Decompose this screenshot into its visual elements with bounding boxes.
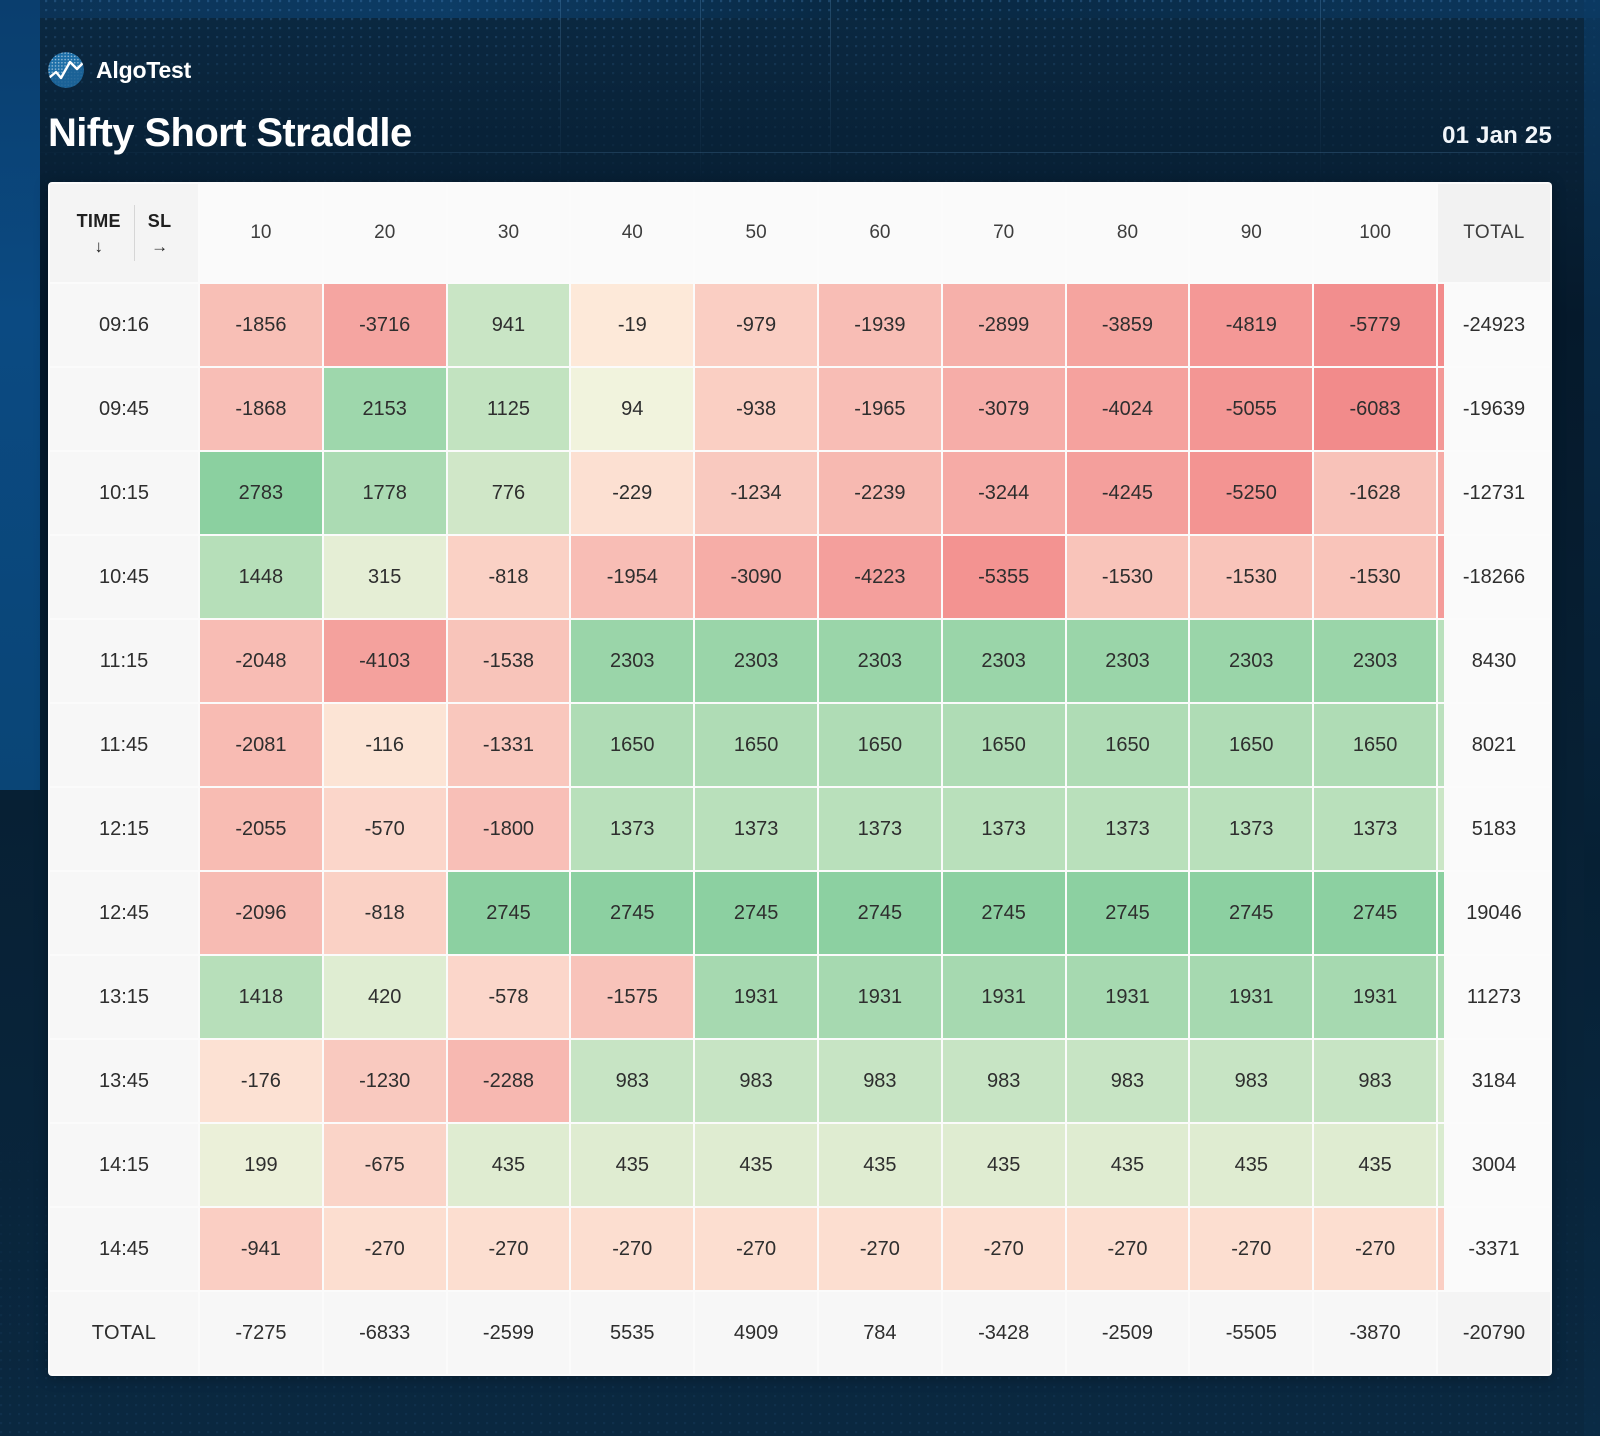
row-time-label: 10:15 bbox=[50, 452, 198, 534]
heatmap-cell[interactable]: -270 bbox=[1314, 1208, 1436, 1290]
heatmap-cell[interactable]: -270 bbox=[819, 1208, 941, 1290]
heatmap-cell[interactable]: 983 bbox=[943, 1040, 1065, 1122]
table-body: 09:16-1856-3716941-19-979-1939-2899-3859… bbox=[50, 284, 1550, 1374]
heatmap-cell[interactable]: -1939 bbox=[819, 284, 941, 366]
heatmap-cell[interactable]: -1954 bbox=[571, 536, 693, 618]
heatmap-cell[interactable]: -2899 bbox=[943, 284, 1065, 366]
heatmap-cell[interactable]: 1931 bbox=[819, 956, 941, 1038]
heatmap-cell[interactable]: 1418 bbox=[200, 956, 322, 1038]
heatmap-cell[interactable]: -176 bbox=[200, 1040, 322, 1122]
column-header-30: 30 bbox=[448, 184, 570, 282]
heatmap-cell[interactable]: 1373 bbox=[1314, 788, 1436, 870]
heatmap-cell[interactable]: 1373 bbox=[1067, 788, 1189, 870]
heatmap-cell[interactable]: -578 bbox=[448, 956, 570, 1038]
heatmap-cell[interactable]: -4024 bbox=[1067, 368, 1189, 450]
heatmap-cell[interactable]: 1373 bbox=[571, 788, 693, 870]
column-header-60: 60 bbox=[819, 184, 941, 282]
arrow-down-icon: ↓ bbox=[94, 238, 103, 255]
total-column-header: TOTAL bbox=[1438, 184, 1550, 282]
row-total-cell: 11273 bbox=[1438, 956, 1550, 1038]
table-row: 14:45-941-270-270-270-270-270-270-270-27… bbox=[50, 1208, 1550, 1290]
row-time-label: 14:45 bbox=[50, 1208, 198, 1290]
heatmap-cell[interactable]: 983 bbox=[695, 1040, 817, 1122]
heatmap-cell[interactable]: -1575 bbox=[571, 956, 693, 1038]
heatmap-cell[interactable]: -4245 bbox=[1067, 452, 1189, 534]
title-row: Nifty Short Straddle 01 Jan 25 bbox=[48, 112, 1552, 160]
heatmap-cell[interactable]: 2745 bbox=[571, 872, 693, 954]
heatmap-cell[interactable]: -270 bbox=[695, 1208, 817, 1290]
heatmap-cell[interactable]: -1856 bbox=[200, 284, 322, 366]
heatmap-cell[interactable]: -270 bbox=[1190, 1208, 1312, 1290]
table-row: 12:15-2055-570-1800137313731373137313731… bbox=[50, 788, 1550, 870]
heatmap-cell[interactable]: -675 bbox=[324, 1124, 446, 1206]
heatmap-cell[interactable]: 1650 bbox=[571, 704, 693, 786]
heatmap-cell[interactable]: 2745 bbox=[1067, 872, 1189, 954]
column-total-cell: -3428 bbox=[943, 1292, 1065, 1374]
row-total-cell: -3371 bbox=[1438, 1208, 1550, 1290]
heatmap-cell[interactable]: -116 bbox=[324, 704, 446, 786]
row-time-label: 09:16 bbox=[50, 284, 198, 366]
heatmap-cell[interactable]: 1931 bbox=[1190, 956, 1312, 1038]
row-total-cell: 8021 bbox=[1438, 704, 1550, 786]
page-title: Nifty Short Straddle bbox=[48, 112, 412, 154]
heatmap-cell[interactable]: 983 bbox=[1067, 1040, 1189, 1122]
column-header-20: 20 bbox=[324, 184, 446, 282]
arrow-right-icon: → bbox=[151, 238, 168, 255]
row-total-cell: 3184 bbox=[1438, 1040, 1550, 1122]
row-total-cell: -24923 bbox=[1438, 284, 1550, 366]
table-row: 13:151418420-578-15751931193119311931193… bbox=[50, 956, 1550, 1038]
heatmap-cell[interactable]: 1650 bbox=[1067, 704, 1189, 786]
row-total-cell: -19639 bbox=[1438, 368, 1550, 450]
heatmap-cell[interactable]: 1650 bbox=[819, 704, 941, 786]
heatmap-cell[interactable]: -3090 bbox=[695, 536, 817, 618]
heatmap-cell[interactable]: -938 bbox=[695, 368, 817, 450]
total-row-label: TOTAL bbox=[50, 1292, 198, 1374]
heatmap-cell[interactable]: 1373 bbox=[1190, 788, 1312, 870]
row-total-cell: -18266 bbox=[1438, 536, 1550, 618]
row-total-cell: 8430 bbox=[1438, 620, 1550, 702]
heatmap-cell[interactable]: 1650 bbox=[1314, 704, 1436, 786]
heatmap-cell[interactable]: 2303 bbox=[1190, 620, 1312, 702]
heatmap-cell[interactable]: -19 bbox=[571, 284, 693, 366]
heatmap-cell[interactable]: 1778 bbox=[324, 452, 446, 534]
heatmap-cell[interactable]: 435 bbox=[695, 1124, 817, 1206]
row-time-label: 12:45 bbox=[50, 872, 198, 954]
heatmap-cell[interactable]: -2096 bbox=[200, 872, 322, 954]
heatmap-cell[interactable]: 1448 bbox=[200, 536, 322, 618]
heatmap-cell[interactable]: -979 bbox=[695, 284, 817, 366]
table-total-row: TOTAL-7275-6833-259955354909784-3428-250… bbox=[50, 1292, 1550, 1374]
heatmap-cell[interactable]: 2303 bbox=[819, 620, 941, 702]
heatmap-cell[interactable]: 1931 bbox=[1067, 956, 1189, 1038]
heatmap-cell[interactable]: 1125 bbox=[448, 368, 570, 450]
sl-axis-label: SL bbox=[148, 211, 172, 232]
time-axis-label: TIME bbox=[77, 211, 121, 232]
row-time-label: 11:15 bbox=[50, 620, 198, 702]
heatmap-cell[interactable]: -1538 bbox=[448, 620, 570, 702]
heatmap-cell[interactable]: -1868 bbox=[200, 368, 322, 450]
report-date: 01 Jan 25 bbox=[1442, 122, 1552, 154]
row-time-label: 09:45 bbox=[50, 368, 198, 450]
heatmap-cell[interactable]: 2303 bbox=[1314, 620, 1436, 702]
heatmap-cell[interactable]: -5055 bbox=[1190, 368, 1312, 450]
heatmap-cell[interactable]: 2303 bbox=[1067, 620, 1189, 702]
heatmap-cell[interactable]: -1230 bbox=[324, 1040, 446, 1122]
heatmap-cell[interactable]: -1530 bbox=[1190, 536, 1312, 618]
heatmap-cell[interactable]: 2745 bbox=[819, 872, 941, 954]
heatmap-cell[interactable]: -3244 bbox=[943, 452, 1065, 534]
table-row: 09:16-1856-3716941-19-979-1939-2899-3859… bbox=[50, 284, 1550, 366]
heatmap-cell[interactable]: -1800 bbox=[448, 788, 570, 870]
heatmap-cell[interactable]: 1373 bbox=[695, 788, 817, 870]
heatmap-cell[interactable]: -570 bbox=[324, 788, 446, 870]
brand-header: AlgoTest bbox=[48, 48, 1552, 92]
column-header-50: 50 bbox=[695, 184, 817, 282]
column-total-cell: -3870 bbox=[1314, 1292, 1436, 1374]
heatmap-cell[interactable]: 435 bbox=[943, 1124, 1065, 1206]
heatmap-cell[interactable]: 315 bbox=[324, 536, 446, 618]
heatmap-cell[interactable]: -229 bbox=[571, 452, 693, 534]
row-time-label: 12:15 bbox=[50, 788, 198, 870]
heatmap-cell[interactable]: 1931 bbox=[695, 956, 817, 1038]
heatmap-cell[interactable]: 2303 bbox=[571, 620, 693, 702]
row-total-cell: -12731 bbox=[1438, 452, 1550, 534]
row-total-cell: 3004 bbox=[1438, 1124, 1550, 1206]
heatmap-cell[interactable]: -4223 bbox=[819, 536, 941, 618]
column-total-cell: -2599 bbox=[448, 1292, 570, 1374]
heatmap-cell[interactable]: -2048 bbox=[200, 620, 322, 702]
heatmap-table-card: TIME ↓ SL → 102030405060708090100TOTAL bbox=[48, 182, 1552, 1376]
heatmap-cell[interactable]: -270 bbox=[943, 1208, 1065, 1290]
heatmap-cell[interactable]: -941 bbox=[200, 1208, 322, 1290]
table-row: 12:45-2096-81827452745274527452745274527… bbox=[50, 872, 1550, 954]
heatmap-cell[interactable]: 1650 bbox=[943, 704, 1065, 786]
heatmap-cell[interactable]: -2288 bbox=[448, 1040, 570, 1122]
column-header-70: 70 bbox=[943, 184, 1065, 282]
column-total-cell: -6833 bbox=[324, 1292, 446, 1374]
heatmap-cell[interactable]: 435 bbox=[1314, 1124, 1436, 1206]
heatmap-cell[interactable]: 435 bbox=[1067, 1124, 1189, 1206]
column-header-90: 90 bbox=[1190, 184, 1312, 282]
table-row: 11:15-2048-4103-153823032303230323032303… bbox=[50, 620, 1550, 702]
heatmap-cell[interactable]: 983 bbox=[819, 1040, 941, 1122]
heatmap-cell[interactable]: 983 bbox=[1314, 1040, 1436, 1122]
heatmap-cell[interactable]: 1373 bbox=[943, 788, 1065, 870]
table-row: 13:45-176-1230-2288983983983983983983983… bbox=[50, 1040, 1550, 1122]
heatmap-cell[interactable]: 941 bbox=[448, 284, 570, 366]
heatmap-cell[interactable]: -5250 bbox=[1190, 452, 1312, 534]
row-time-label: 11:45 bbox=[50, 704, 198, 786]
heatmap-cell[interactable]: -4103 bbox=[324, 620, 446, 702]
table-row: 11:45-2081-116-1331165016501650165016501… bbox=[50, 704, 1550, 786]
heatmap-cell[interactable]: -2055 bbox=[200, 788, 322, 870]
row-time-label: 10:45 bbox=[50, 536, 198, 618]
heatmap-cell[interactable]: 2745 bbox=[1314, 872, 1436, 954]
heatmap-cell[interactable]: -4819 bbox=[1190, 284, 1312, 366]
heatmap-cell[interactable]: -1965 bbox=[819, 368, 941, 450]
heatmap-cell[interactable]: -270 bbox=[324, 1208, 446, 1290]
heatmap-cell[interactable]: 435 bbox=[448, 1124, 570, 1206]
heatmap-cell[interactable]: -818 bbox=[324, 872, 446, 954]
heatmap-cell[interactable]: -5779 bbox=[1314, 284, 1436, 366]
heatmap-cell[interactable]: 2745 bbox=[943, 872, 1065, 954]
table-row: 09:45-18682153112594-938-1965-3079-4024-… bbox=[50, 368, 1550, 450]
heatmap-cell[interactable]: -1530 bbox=[1067, 536, 1189, 618]
column-header-40: 40 bbox=[571, 184, 693, 282]
heatmap-cell[interactable]: 435 bbox=[571, 1124, 693, 1206]
heatmap-cell[interactable]: 2783 bbox=[200, 452, 322, 534]
column-total-cell: 4909 bbox=[695, 1292, 817, 1374]
column-total-cell: 5535 bbox=[571, 1292, 693, 1374]
heatmap-cell[interactable]: 2745 bbox=[1190, 872, 1312, 954]
row-total-cell: 19046 bbox=[1438, 872, 1550, 954]
heatmap-cell[interactable]: -1234 bbox=[695, 452, 817, 534]
heatmap-cell[interactable]: -3859 bbox=[1067, 284, 1189, 366]
heatmap-cell[interactable]: 1931 bbox=[943, 956, 1065, 1038]
heatmap-cell[interactable]: 2303 bbox=[943, 620, 1065, 702]
column-total-cell: -5505 bbox=[1190, 1292, 1312, 1374]
algotest-chart-logo-icon bbox=[48, 52, 84, 88]
heatmap-cell[interactable]: 94 bbox=[571, 368, 693, 450]
heatmap-cell[interactable]: 1650 bbox=[695, 704, 817, 786]
column-header-100: 100 bbox=[1314, 184, 1436, 282]
row-time-label: 13:15 bbox=[50, 956, 198, 1038]
heatmap-cell[interactable]: 199 bbox=[200, 1124, 322, 1206]
heatmap-cell[interactable]: 420 bbox=[324, 956, 446, 1038]
row-total-cell: 5183 bbox=[1438, 788, 1550, 870]
heatmap-cell[interactable]: 776 bbox=[448, 452, 570, 534]
heatmap-cell[interactable]: -6083 bbox=[1314, 368, 1436, 450]
heatmap-cell[interactable]: -1628 bbox=[1314, 452, 1436, 534]
heatmap-cell[interactable]: 2745 bbox=[448, 872, 570, 954]
time-axis-header: TIME ↓ bbox=[64, 211, 134, 255]
heatmap-cell[interactable]: -3716 bbox=[324, 284, 446, 366]
heatmap-cell[interactable]: -3079 bbox=[943, 368, 1065, 450]
heatmap-cell[interactable]: -270 bbox=[1067, 1208, 1189, 1290]
header-row: TIME ↓ SL → 102030405060708090100TOTAL bbox=[50, 184, 1550, 282]
column-header-80: 80 bbox=[1067, 184, 1189, 282]
heatmap-cell[interactable]: 983 bbox=[571, 1040, 693, 1122]
heatmap-cell[interactable]: 983 bbox=[1190, 1040, 1312, 1122]
row-time-label: 14:15 bbox=[50, 1124, 198, 1206]
table-header: TIME ↓ SL → 102030405060708090100TOTAL bbox=[50, 184, 1550, 282]
heatmap-cell[interactable]: 435 bbox=[819, 1124, 941, 1206]
heatmap-cell[interactable]: 435 bbox=[1190, 1124, 1312, 1206]
column-total-cell: -7275 bbox=[200, 1292, 322, 1374]
column-total-cell: 784 bbox=[819, 1292, 941, 1374]
heatmap-cell[interactable]: -818 bbox=[448, 536, 570, 618]
report-page: AlgoTest Nifty Short Straddle 01 Jan 25 … bbox=[0, 0, 1600, 1436]
corner-header-cell: TIME ↓ SL → bbox=[50, 184, 198, 282]
heatmap-cell[interactable]: -1331 bbox=[448, 704, 570, 786]
column-total-cell: -2509 bbox=[1067, 1292, 1189, 1374]
heatmap-table: TIME ↓ SL → 102030405060708090100TOTAL bbox=[48, 182, 1552, 1376]
heatmap-cell[interactable]: 2153 bbox=[324, 368, 446, 450]
table-row: 10:1527831778776-229-1234-2239-3244-4245… bbox=[50, 452, 1550, 534]
sl-axis-header: SL → bbox=[135, 211, 185, 255]
heatmap-cell[interactable]: 2303 bbox=[695, 620, 817, 702]
heatmap-cell[interactable]: -2239 bbox=[819, 452, 941, 534]
column-header-10: 10 bbox=[200, 184, 322, 282]
brand-name: AlgoTest bbox=[96, 57, 191, 84]
heatmap-cell[interactable]: -270 bbox=[571, 1208, 693, 1290]
heatmap-cell[interactable]: 1650 bbox=[1190, 704, 1312, 786]
heatmap-cell[interactable]: 1373 bbox=[819, 788, 941, 870]
table-row: 14:15199-6754354354354354354354354353004 bbox=[50, 1124, 1550, 1206]
row-time-label: 13:45 bbox=[50, 1040, 198, 1122]
heatmap-cell[interactable]: -1530 bbox=[1314, 536, 1436, 618]
heatmap-cell[interactable]: 1931 bbox=[1314, 956, 1436, 1038]
grand-total-cell: -20790 bbox=[1438, 1292, 1550, 1374]
heatmap-cell[interactable]: -270 bbox=[448, 1208, 570, 1290]
heatmap-cell[interactable]: 2745 bbox=[695, 872, 817, 954]
table-row: 10:451448315-818-1954-3090-4223-5355-153… bbox=[50, 536, 1550, 618]
heatmap-cell[interactable]: -2081 bbox=[200, 704, 322, 786]
heatmap-cell[interactable]: -5355 bbox=[943, 536, 1065, 618]
